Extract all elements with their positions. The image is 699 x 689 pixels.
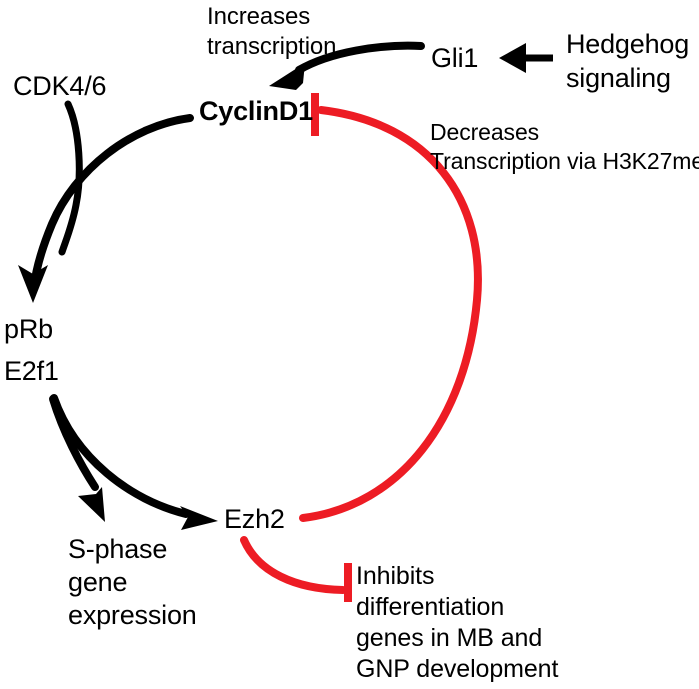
node-gli1: Gli1 <box>431 42 478 75</box>
annotation-decreases-transcription: Decreases Transcription via H3K27me3 <box>430 118 699 176</box>
node-s-phase-gene-expression: S-phase gene expression <box>68 533 197 632</box>
edge-cdk46-to-prb <box>62 104 79 252</box>
node-hedgehog-signaling: Hedgehog signaling <box>566 27 689 95</box>
edge-cyclind1-to-prb <box>18 118 190 303</box>
annotation-inhibits-differentiation: Inhibits differentiation genes in MB and… <box>356 561 558 685</box>
node-cyclind1: CyclinD1 <box>199 95 313 128</box>
edge-hedgehog-to-gli1 <box>499 43 553 73</box>
node-ezh2: Ezh2 <box>224 503 285 536</box>
pathway-diagram: Increases transcription Gli1 Hedgehog si… <box>0 0 699 689</box>
node-e2f1: E2f1 <box>4 355 59 388</box>
node-cdk4-6: CDK4/6 <box>13 70 106 103</box>
annotation-increases-transcription: Increases transcription <box>207 2 336 62</box>
node-prb: pRb <box>4 313 53 346</box>
edge-ezh2-to-differentiation <box>244 540 348 602</box>
